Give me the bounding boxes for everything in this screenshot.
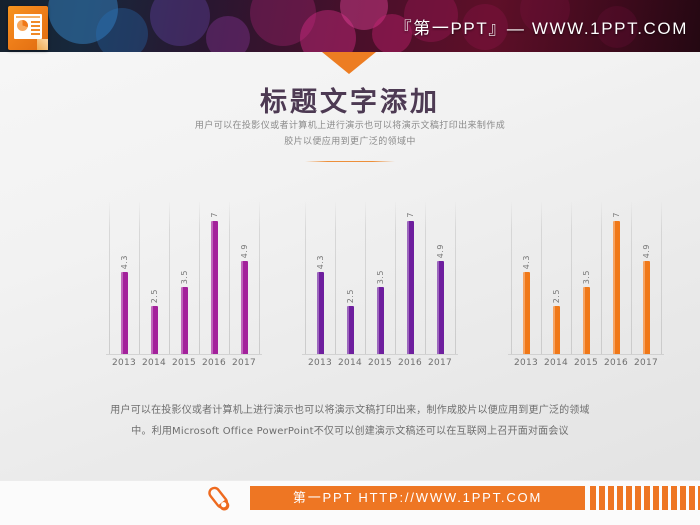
arrow-down-icon <box>322 52 376 74</box>
slide: 『第一PPT』— WWW.1PPT.COM 标题文字添加 用户可以在投影仪或者计… <box>0 0 700 525</box>
bar-value-label: 4.9 <box>240 244 249 258</box>
powerpoint-document-icon <box>8 6 48 50</box>
gridline <box>365 202 366 354</box>
page-title: 标题文字添加 <box>0 80 700 119</box>
bokeh-decoration <box>150 0 210 46</box>
gridline <box>199 202 200 354</box>
logo-text-line <box>31 29 40 31</box>
footer-url-label: 第一PPT HTTP://WWW.1PPT.COM <box>250 486 585 510</box>
gridline <box>425 202 426 354</box>
gridline <box>571 202 572 354</box>
x-axis-tick-label: 2014 <box>541 358 571 368</box>
bar[interactable] <box>121 272 128 354</box>
x-axis-tick-label: 2013 <box>511 358 541 368</box>
gridline <box>229 202 230 354</box>
bar-value-label: 3.5 <box>582 270 591 284</box>
bar-value-label: 2.5 <box>150 289 159 303</box>
gridline <box>259 202 260 354</box>
bar-value-label: 3.5 <box>180 270 189 284</box>
bar[interactable] <box>211 221 218 354</box>
x-axis-tick-label: 2016 <box>601 358 631 368</box>
footer-stripes-decoration <box>590 486 700 510</box>
x-axis-tick-label: 2014 <box>139 358 169 368</box>
x-axis-tick-label: 2016 <box>395 358 425 368</box>
gridline <box>395 202 396 354</box>
plot-area: 4.32.53.574.9 <box>300 202 460 354</box>
plot-area: 4.32.53.574.9 <box>104 202 264 354</box>
gridline <box>139 202 140 354</box>
bar-chart-orange[interactable]: 4.32.53.574.920132014201520162017 <box>506 196 666 376</box>
bar[interactable] <box>523 272 530 354</box>
bar-chart-violet[interactable]: 4.32.53.574.920132014201520162017 <box>300 196 460 376</box>
body-line-2: 中。利用Microsoft Office PowerPoint不仅可以创建演示文… <box>60 421 640 442</box>
pie-chart-icon <box>17 20 28 31</box>
bar[interactable] <box>553 306 560 354</box>
logo-text-line <box>31 33 40 35</box>
bar-value-label: 2.5 <box>346 289 355 303</box>
bar[interactable] <box>643 261 650 354</box>
bar-value-label: 7 <box>210 212 219 218</box>
body-line-1: 用户可以在投影仪或者计算机上进行演示也可以将演示文稿打印出来，制作成胶片以便应用… <box>60 400 640 421</box>
banner-site-text: 『第一PPT』— WWW.1PPT.COM <box>395 14 688 39</box>
x-axis-tick-label: 2017 <box>425 358 455 368</box>
bar[interactable] <box>347 306 354 354</box>
gridline <box>169 202 170 354</box>
charts-row: 4.32.53.574.920132014201520162017 4.32.5… <box>0 196 700 376</box>
axis-baseline <box>106 354 262 355</box>
x-axis-tick-label: 2017 <box>631 358 661 368</box>
logo-text-line <box>31 25 40 27</box>
bar-value-label: 2.5 <box>552 289 561 303</box>
bar[interactable] <box>241 261 248 354</box>
subtitle-line-2: 胶片以便应用到更广泛的领域中 <box>0 134 700 150</box>
top-banner: 『第一PPT』— WWW.1PPT.COM <box>0 0 700 52</box>
gridline <box>455 202 456 354</box>
bar[interactable] <box>437 261 444 354</box>
bar[interactable] <box>151 306 158 354</box>
logo-corner-fold <box>37 39 48 50</box>
gridline <box>541 202 542 354</box>
pen-icon <box>203 483 237 517</box>
title-divider <box>305 161 395 162</box>
x-axis-tick-label: 2013 <box>109 358 139 368</box>
bar[interactable] <box>407 221 414 354</box>
bar[interactable] <box>583 287 590 354</box>
bar-value-label: 7 <box>406 212 415 218</box>
bar[interactable] <box>377 287 384 354</box>
x-axis-tick-label: 2015 <box>169 358 199 368</box>
bar[interactable] <box>317 272 324 354</box>
gridline <box>631 202 632 354</box>
x-axis-tick-label: 2017 <box>229 358 259 368</box>
bokeh-decoration <box>96 8 148 52</box>
bar-value-label: 4.9 <box>436 244 445 258</box>
gridline <box>305 202 306 354</box>
bar-value-label: 7 <box>612 212 621 218</box>
bokeh-decoration <box>206 16 250 52</box>
axis-baseline <box>302 354 458 355</box>
bar[interactable] <box>181 287 188 354</box>
x-axis-tick-label: 2015 <box>571 358 601 368</box>
bar-value-label: 3.5 <box>376 270 385 284</box>
bar-chart-magenta[interactable]: 4.32.53.574.920132014201520162017 <box>104 196 264 376</box>
bar-value-label: 4.3 <box>316 255 325 269</box>
bar-value-label: 4.3 <box>120 255 129 269</box>
axis-baseline <box>508 354 664 355</box>
gridline <box>661 202 662 354</box>
x-axis-tick-label: 2013 <box>305 358 335 368</box>
x-axis-tick-label: 2015 <box>365 358 395 368</box>
page-subtitle: 用户可以在投影仪或者计算机上进行演示也可以将演示文稿打印出来制作成 胶片以便应用… <box>0 118 700 150</box>
bar-value-label: 4.3 <box>522 255 531 269</box>
gridline <box>511 202 512 354</box>
logo-card-header <box>16 16 40 18</box>
subtitle-line-1: 用户可以在投影仪或者计算机上进行演示也可以将演示文稿打印出来制作成 <box>0 118 700 134</box>
bar-value-label: 4.9 <box>642 244 651 258</box>
plot-area: 4.32.53.574.9 <box>506 202 666 354</box>
x-axis-tick-label: 2014 <box>335 358 365 368</box>
gridline <box>335 202 336 354</box>
gridline <box>601 202 602 354</box>
bar[interactable] <box>613 221 620 354</box>
gridline <box>109 202 110 354</box>
x-axis-tick-label: 2016 <box>199 358 229 368</box>
logo-text-line <box>31 21 40 23</box>
body-description: 用户可以在投影仪或者计算机上进行演示也可以将演示文稿打印出来，制作成胶片以便应用… <box>60 400 640 442</box>
